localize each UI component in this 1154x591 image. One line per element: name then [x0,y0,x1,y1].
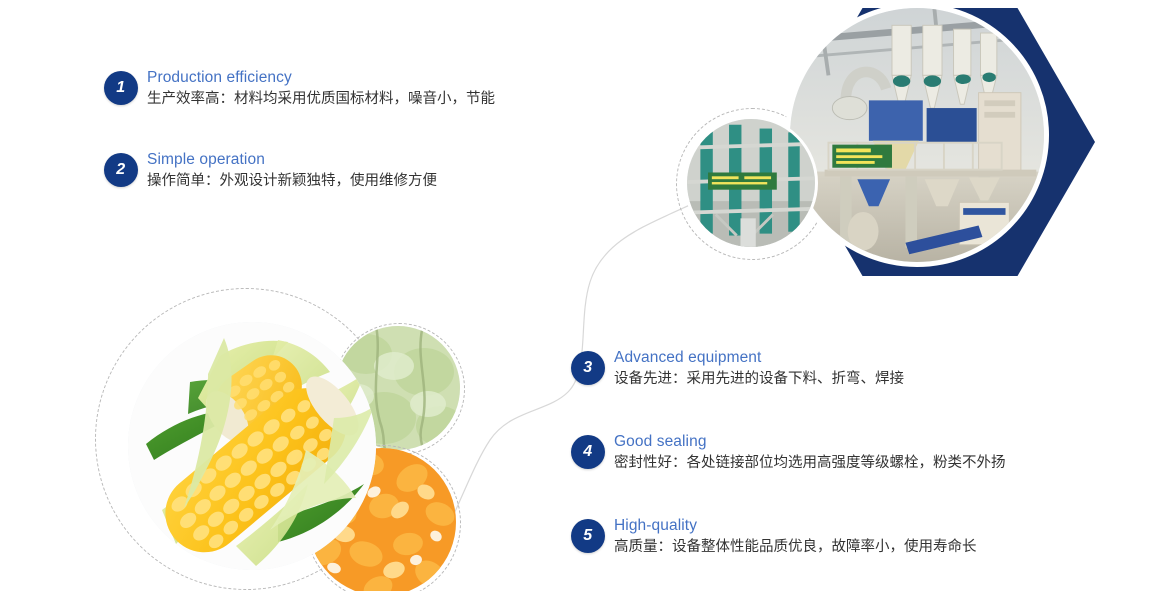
feature-badge-1: 1 [104,71,138,105]
corn-cob-photo [128,322,376,570]
feature-title-5: High-quality [614,516,1087,535]
feature-desc-1: 生产效率高：材料均采用优质国标材料，噪音小，节能 [147,88,570,110]
infographic-page: 1 Production efficiency 生产效率高：材料均采用优质国标材… [0,0,1154,591]
feature-badge-2: 2 [104,153,138,187]
mill-large-photo [785,3,1049,267]
feature-title-2: Simple operation [147,150,570,169]
mill-small-photo [684,116,818,250]
feature-item-2: 2 Simple operation 操作简单：外观设计新颖独特，使用维修方便 [100,150,570,196]
feature-list-bottom: 3 Advanced equipment 设备先进：采用先进的设备下料、折弯、焊… [567,348,1087,562]
feature-badge-5: 5 [571,519,605,553]
feature-title-4: Good sealing [614,432,1087,451]
feature-list-top: 1 Production efficiency 生产效率高：材料均采用优质国标材… [100,68,570,196]
feature-item-5: 5 High-quality 高质量：设备整体性能品质优良，故障率小，使用寿命长 [567,516,1087,562]
feature-item-4: 4 Good sealing 密封性好：各处链接部位均选用高强度等级螺栓，粉类不… [567,432,1087,478]
feature-desc-5: 高质量：设备整体性能品质优良，故障率小，使用寿命长 [614,536,1087,558]
feature-item-1: 1 Production efficiency 生产效率高：材料均采用优质国标材… [100,68,570,114]
feature-title-3: Advanced equipment [614,348,1087,367]
feature-desc-2: 操作简单：外观设计新颖独特，使用维修方便 [147,170,570,192]
feature-badge-3: 3 [571,351,605,385]
feature-desc-4: 密封性好：各处链接部位均选用高强度等级螺栓，粉类不外扬 [614,452,1087,474]
feature-item-3: 3 Advanced equipment 设备先进：采用先进的设备下料、折弯、焊… [567,348,1087,394]
feature-title-1: Production efficiency [147,68,570,87]
feature-badge-4: 4 [571,435,605,469]
feature-desc-3: 设备先进：采用先进的设备下料、折弯、焊接 [614,368,1087,390]
